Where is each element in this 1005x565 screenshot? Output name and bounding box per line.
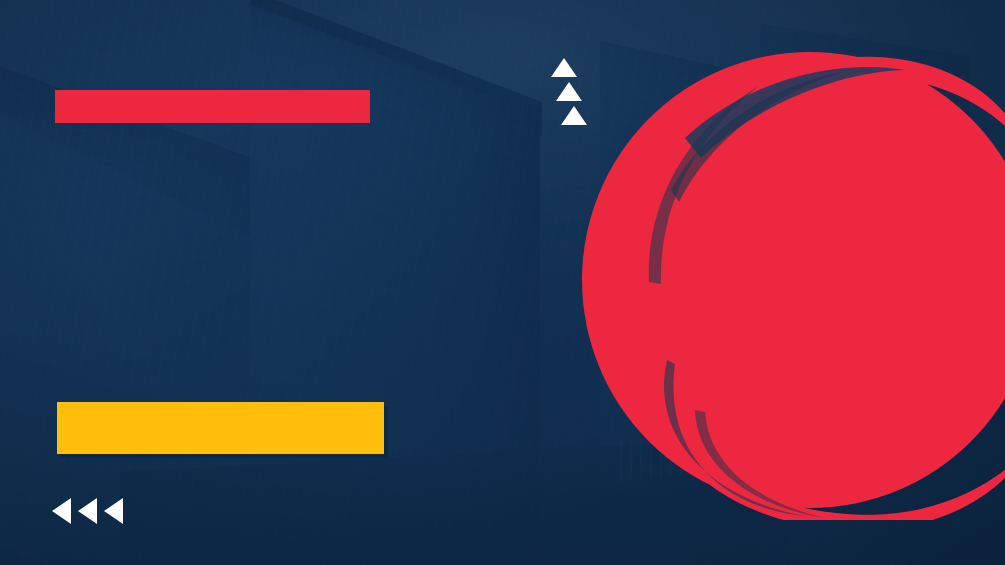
headline bbox=[52, 150, 522, 154]
brand-badge bbox=[55, 90, 370, 123]
start-building-wealth-button[interactable] bbox=[57, 402, 384, 454]
left-arrow-icon-3 bbox=[104, 498, 123, 524]
promo-banner bbox=[0, 0, 1005, 565]
triple-up-triangle-icon bbox=[551, 58, 587, 130]
left-arrow-icon-1 bbox=[52, 498, 71, 524]
left-arrow-icon-2 bbox=[78, 498, 97, 524]
up-triangle-icon-2 bbox=[556, 82, 582, 101]
red-brush-circle bbox=[575, 30, 1005, 520]
up-triangle-icon-3 bbox=[561, 106, 587, 125]
up-triangle-icon-1 bbox=[551, 58, 577, 77]
triple-left-arrow-icon bbox=[52, 498, 123, 524]
